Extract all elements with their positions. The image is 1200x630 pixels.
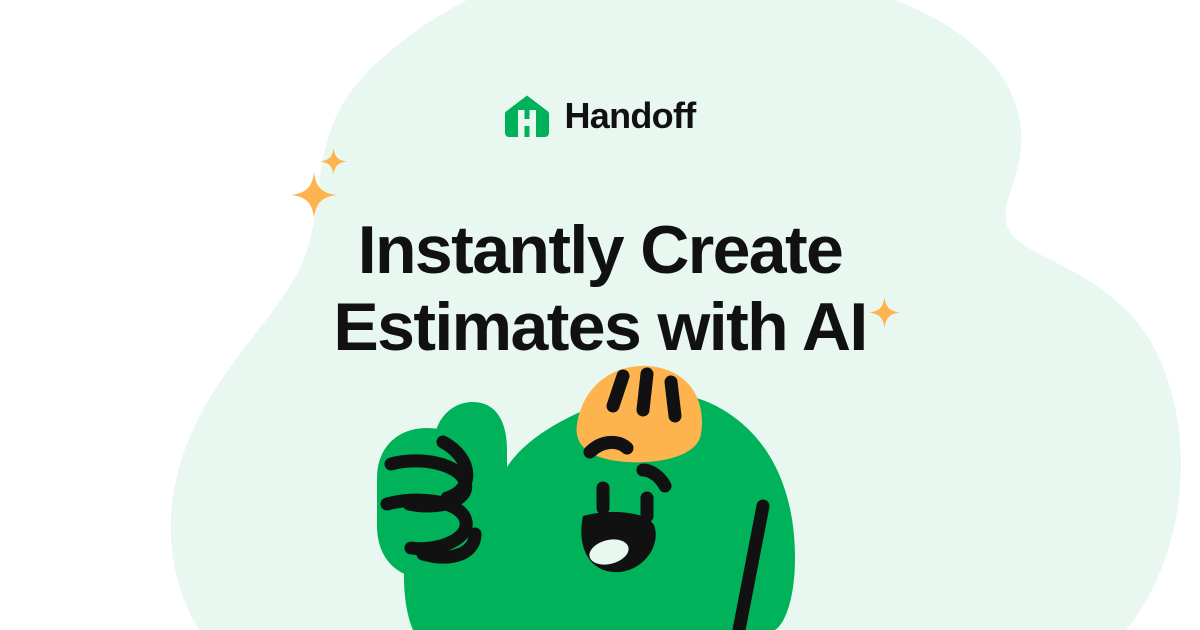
page-title: Instantly Create Estimates with AI [0,212,1200,366]
headline-line-2: Estimates with AI [0,289,1200,366]
brand-name: Handoff [564,98,695,134]
headline-line-1: Instantly Create [0,212,1200,289]
sparkle-icon [291,172,337,218]
sparkle-icon [869,297,900,328]
house-h-logo-icon [504,94,550,138]
construction-worker-mascot-icon [355,358,815,630]
sparkle-icon [320,148,347,175]
hero-banner: Handoff Instantly Create Estimates with … [0,0,1200,630]
brand-lockup: Handoff [0,92,1200,140]
